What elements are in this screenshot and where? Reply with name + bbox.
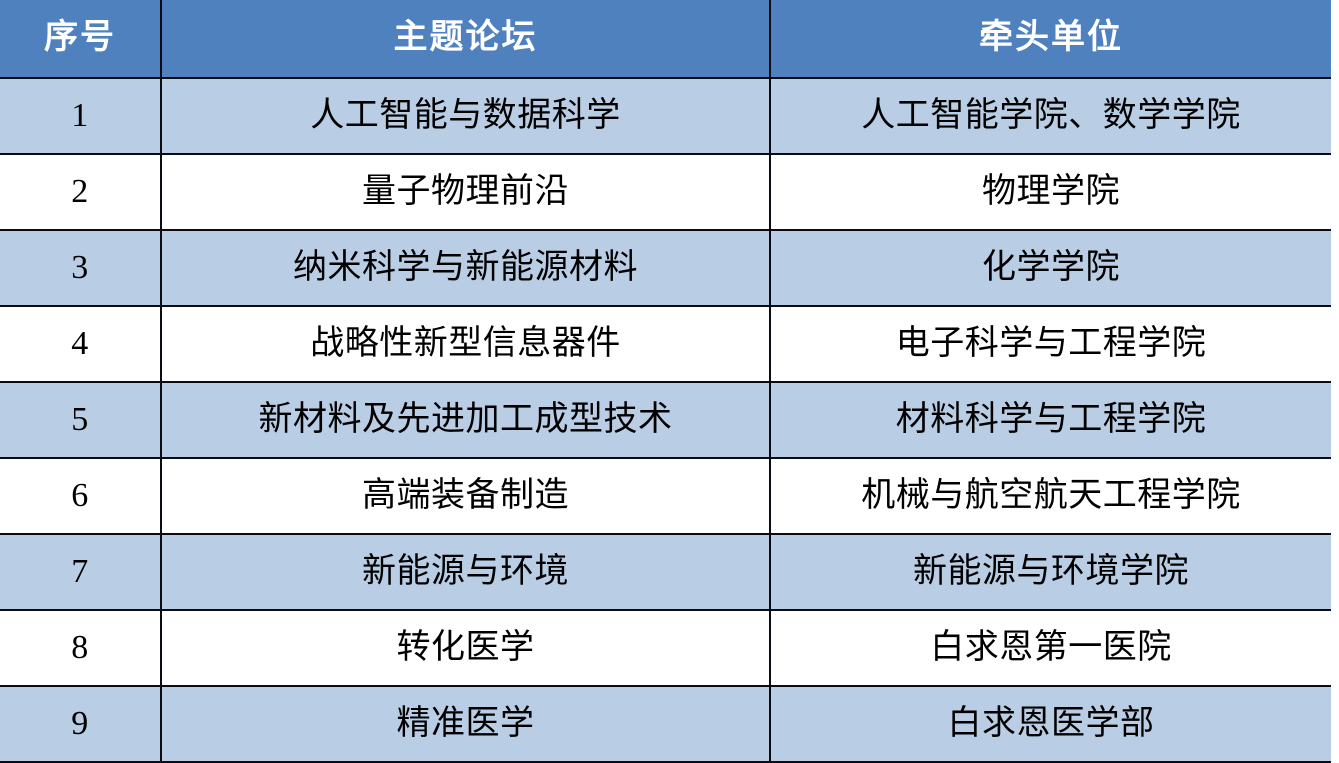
cell-index: 5 — [0, 382, 161, 458]
column-header-topic: 主题论坛 — [161, 0, 770, 78]
header-row: 序号 主题论坛 牵头单位 — [0, 0, 1331, 78]
cell-index: 1 — [0, 78, 161, 154]
cell-unit: 人工智能学院、数学学院 — [770, 78, 1331, 154]
table-row: 8 转化医学 白求恩第一医院 — [0, 610, 1331, 686]
cell-index: 8 — [0, 610, 161, 686]
cell-topic: 人工智能与数据科学 — [161, 78, 770, 154]
column-header-index: 序号 — [0, 0, 161, 78]
cell-unit: 物理学院 — [770, 154, 1331, 230]
cell-unit: 白求恩医学部 — [770, 686, 1331, 762]
cell-topic: 新材料及先进加工成型技术 — [161, 382, 770, 458]
cell-index: 4 — [0, 306, 161, 382]
table-body: 1 人工智能与数据科学 人工智能学院、数学学院 2 量子物理前沿 物理学院 3 … — [0, 78, 1331, 762]
cell-unit: 新能源与环境学院 — [770, 534, 1331, 610]
cell-topic: 精准医学 — [161, 686, 770, 762]
forum-table: 序号 主题论坛 牵头单位 1 人工智能与数据科学 人工智能学院、数学学院 2 量… — [0, 0, 1331, 763]
table-row: 1 人工智能与数据科学 人工智能学院、数学学院 — [0, 78, 1331, 154]
cell-topic: 高端装备制造 — [161, 458, 770, 534]
table-row: 7 新能源与环境 新能源与环境学院 — [0, 534, 1331, 610]
cell-unit: 白求恩第一医院 — [770, 610, 1331, 686]
cell-topic: 新能源与环境 — [161, 534, 770, 610]
cell-unit: 电子科学与工程学院 — [770, 306, 1331, 382]
cell-index: 9 — [0, 686, 161, 762]
table-row: 5 新材料及先进加工成型技术 材料科学与工程学院 — [0, 382, 1331, 458]
cell-topic: 量子物理前沿 — [161, 154, 770, 230]
table-row: 4 战略性新型信息器件 电子科学与工程学院 — [0, 306, 1331, 382]
table-row: 2 量子物理前沿 物理学院 — [0, 154, 1331, 230]
cell-index: 6 — [0, 458, 161, 534]
column-header-unit: 牵头单位 — [770, 0, 1331, 78]
cell-topic: 战略性新型信息器件 — [161, 306, 770, 382]
cell-index: 3 — [0, 230, 161, 306]
table-row: 3 纳米科学与新能源材料 化学学院 — [0, 230, 1331, 306]
cell-index: 2 — [0, 154, 161, 230]
table-row: 9 精准医学 白求恩医学部 — [0, 686, 1331, 762]
cell-topic: 转化医学 — [161, 610, 770, 686]
cell-unit: 机械与航空航天工程学院 — [770, 458, 1331, 534]
table-row: 6 高端装备制造 机械与航空航天工程学院 — [0, 458, 1331, 534]
cell-unit: 化学学院 — [770, 230, 1331, 306]
forum-table-container: 序号 主题论坛 牵头单位 1 人工智能与数据科学 人工智能学院、数学学院 2 量… — [0, 0, 1339, 762]
table-header: 序号 主题论坛 牵头单位 — [0, 0, 1331, 78]
cell-index: 7 — [0, 534, 161, 610]
cell-unit: 材料科学与工程学院 — [770, 382, 1331, 458]
cell-topic: 纳米科学与新能源材料 — [161, 230, 770, 306]
